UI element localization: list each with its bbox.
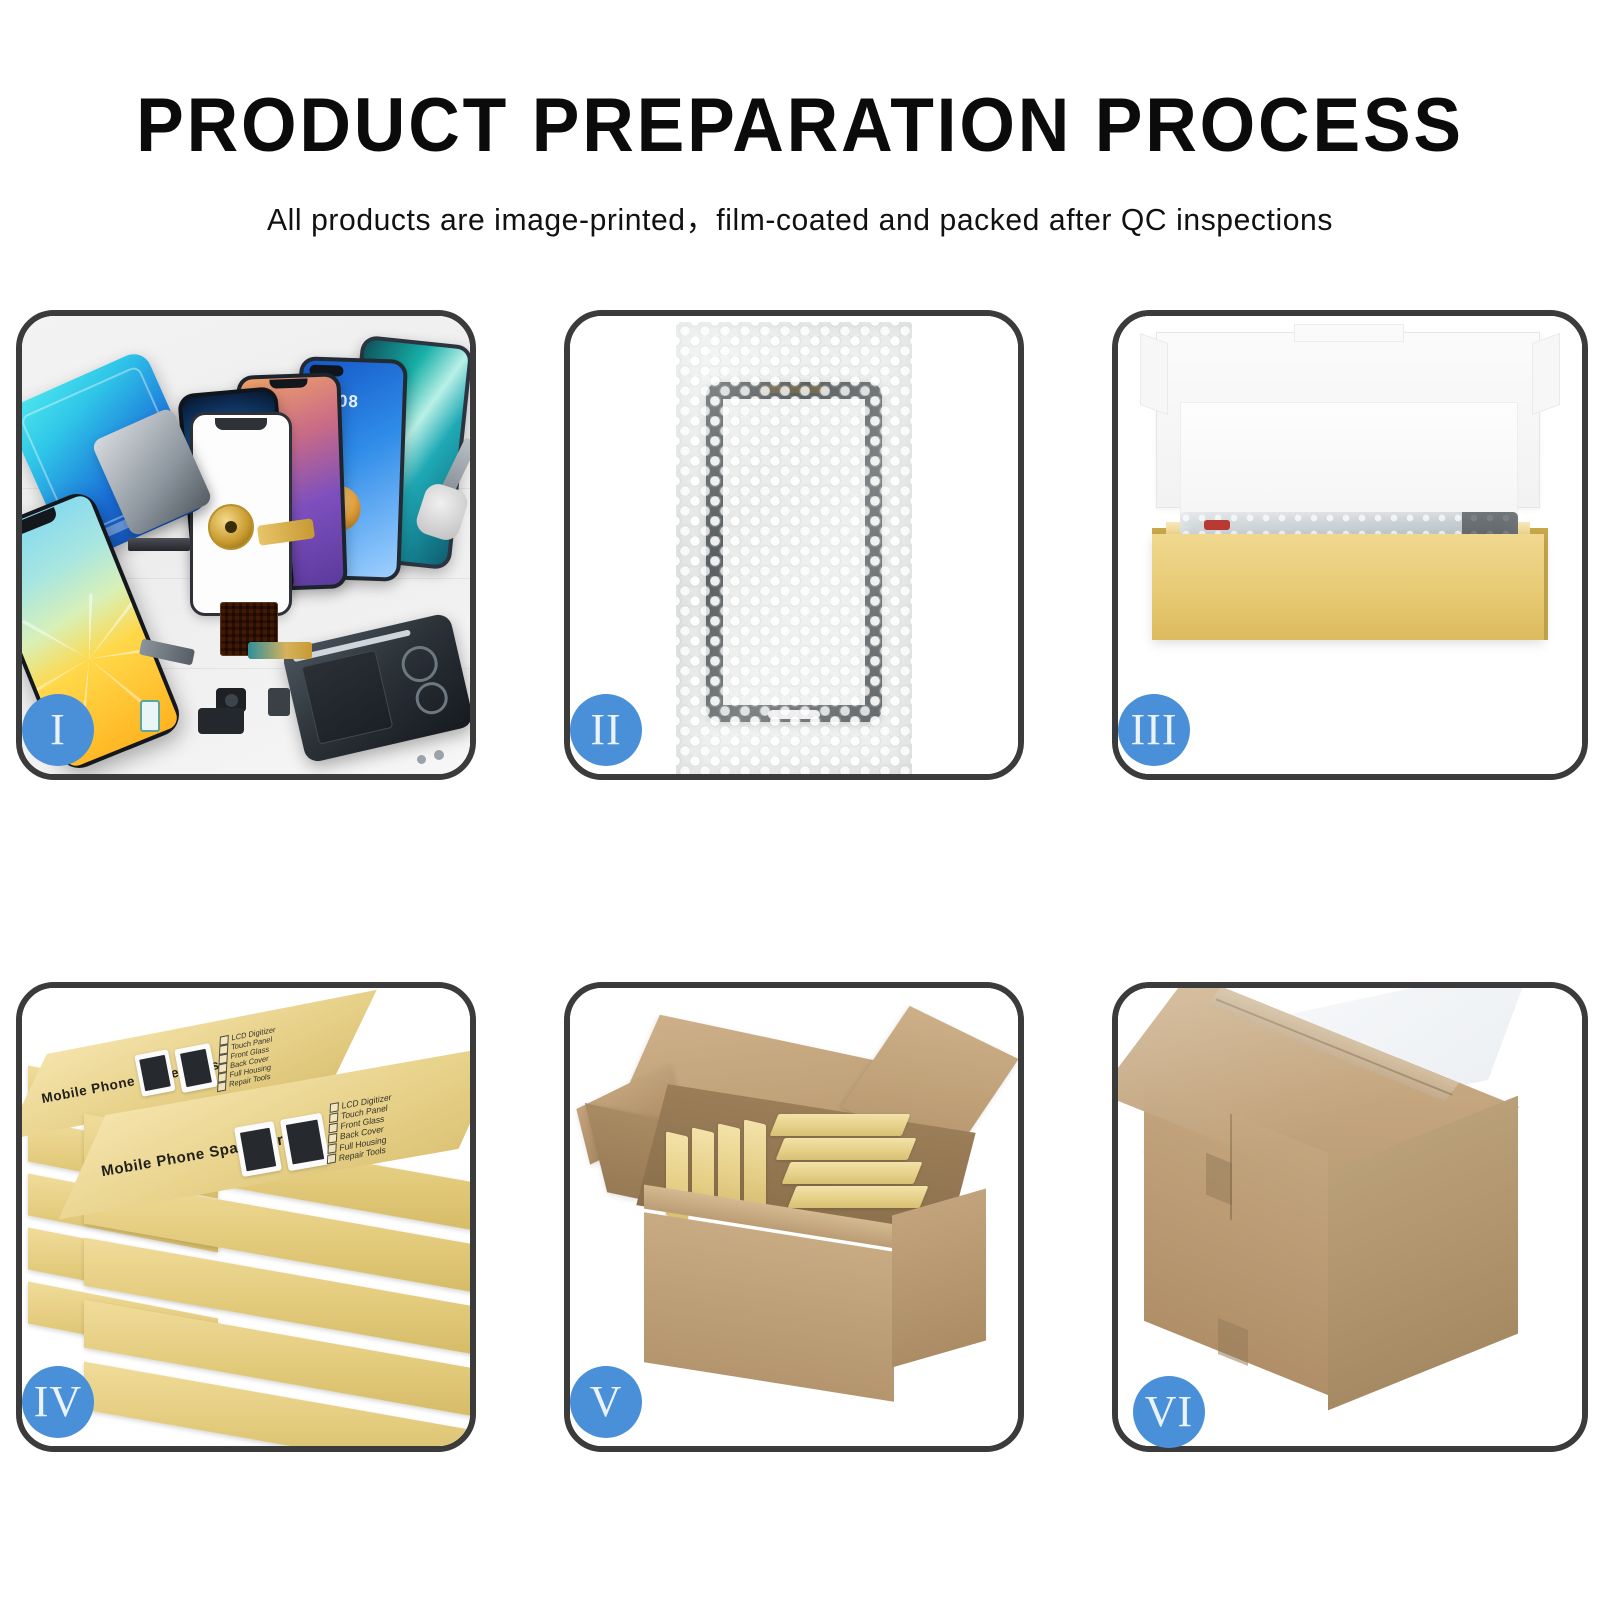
inner-box-6 [776, 1138, 917, 1160]
sealed-carton-photo [1118, 988, 1582, 1446]
sim-tray-part [140, 700, 160, 732]
step-photo-6 [1118, 988, 1582, 1446]
taptic-engine-part [208, 504, 254, 550]
mailer-lid-wing-right [1532, 333, 1560, 415]
step-badge-5: V [570, 1366, 642, 1438]
speaker-module-part [198, 708, 244, 734]
inner-box-7 [782, 1162, 923, 1184]
small-chip-part [268, 688, 290, 716]
open-mailer-box-photo [1118, 316, 1582, 774]
inner-box-8 [788, 1186, 929, 1208]
screw-part-a [434, 750, 444, 760]
carton-side-face [892, 1189, 986, 1368]
screw-part-b [417, 755, 426, 764]
step-badge-6: VI [1133, 1376, 1205, 1448]
box-screen-thumb-front-b [280, 1113, 330, 1172]
mailer-lid-tab [1294, 324, 1404, 342]
step-photo-2 [570, 316, 1018, 774]
retail-box-checklist-front: LCD Digitizer Touch Panel Front Glass Ba… [327, 1092, 392, 1165]
step-badge-2: II [570, 694, 642, 766]
step-photo-3 [1118, 316, 1582, 774]
back-housing [281, 612, 470, 764]
plastic-sheen [676, 322, 912, 774]
open-carton-photo [570, 988, 1018, 1446]
inner-box-4 [744, 1119, 766, 1208]
step-badge-3: III [1118, 694, 1190, 766]
bubble-wrap-sheet [676, 322, 912, 774]
mailer-front-panel [1152, 534, 1544, 640]
speaker-bar-part [128, 538, 190, 551]
step-badge-4: IV [22, 1366, 94, 1438]
inner-box-5 [770, 1114, 911, 1136]
infographic-page: PRODUCT PREPARATION PROCESS All products… [0, 0, 1600, 1600]
retail-box-checklist-rear: LCD Digitizer Touch Panel Front Glass Ba… [217, 1026, 276, 1092]
step-photo-5 [570, 988, 1018, 1446]
bubble-wrapped-screen-photo [570, 316, 1018, 774]
stacked-retail-boxes-photo: Mobile Phone Spare Parts LCD Digitizer T… [22, 988, 470, 1446]
box-screen-thumb-front-a [234, 1121, 282, 1177]
mailer-lid-wing-left [1140, 333, 1168, 415]
step-photo-1: 08:08 [22, 316, 470, 774]
step-badge-1: I [22, 694, 94, 766]
flex-cable-part-b [248, 642, 312, 659]
spare-parts-photo: 08:08 [22, 316, 470, 774]
steps-grid: 08:08 [0, 0, 1600, 1600]
step-photo-4: Mobile Phone Spare Parts LCD Digitizer T… [22, 988, 470, 1446]
